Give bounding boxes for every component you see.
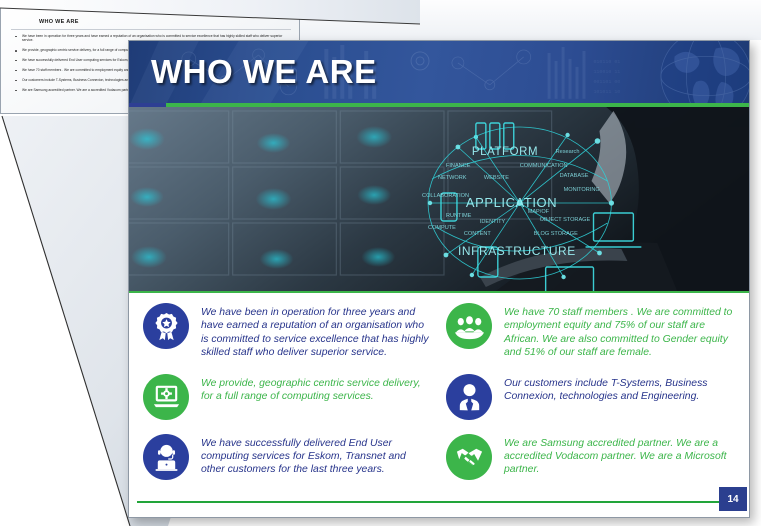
award-badge-icon	[143, 303, 189, 349]
svg-text:BLOG STORAGE: BLOG STORAGE	[534, 231, 578, 237]
globe-icon	[657, 41, 749, 107]
list-item-text: We have successfully delivered End User …	[201, 434, 432, 477]
content-area: We have been in operation for three year…	[129, 293, 749, 517]
list-item: We are Samsung accredited partner. We ar…	[446, 434, 735, 480]
page-number-badge: 14	[719, 487, 747, 511]
svg-text:RUNTIME: RUNTIME	[446, 213, 472, 219]
svg-text:OBJECT STORAGE: OBJECT STORAGE	[540, 217, 591, 223]
list-item-text: We have been in operation for three year…	[201, 303, 432, 360]
svg-text:WEBSITE: WEBSITE	[484, 175, 509, 181]
laptop-gear-icon	[143, 374, 189, 420]
footer-green-line	[137, 501, 741, 503]
svg-text:APPLICATION: APPLICATION	[466, 195, 557, 210]
list-item: We provide, geographic centric service d…	[143, 374, 432, 420]
svg-text:MAP/OF: MAP/OF	[528, 209, 550, 215]
page-title: WHO WE ARE	[151, 50, 377, 94]
svg-text:MONITORING: MONITORING	[564, 187, 600, 193]
handshake-icon	[446, 434, 492, 480]
svg-text:NETWORK: NETWORK	[438, 175, 467, 181]
svg-text:CONTENT: CONTENT	[464, 231, 492, 237]
svg-text:DATABASE: DATABASE	[560, 173, 589, 179]
svg-text:FINANCE: FINANCE	[446, 163, 471, 169]
background-slide-title: WHO WE ARE	[39, 19, 79, 25]
group-people-icon	[446, 303, 492, 349]
slide-footer: 14	[129, 495, 749, 517]
background-slide-rule	[11, 29, 291, 30]
list-item: We have 70 staff members . We are commit…	[446, 303, 735, 360]
list-item: Our customers include T-Systems, Busines…	[446, 374, 735, 420]
svg-text:101011 10: 101011 10	[593, 89, 620, 95]
svg-text:COMPUTE: COMPUTE	[428, 225, 456, 231]
list-item-text: Our customers include T-Systems, Busines…	[504, 374, 735, 404]
svg-text:110010 11: 110010 11	[593, 69, 620, 75]
content-column-left: We have been in operation for three year…	[143, 303, 432, 517]
hero-graphic: PLATFORM APPLICATION INFRASTRUCTURE Rese…	[129, 107, 749, 291]
slide-header-banner: 010110 01110010 11 001101 00101011 10	[129, 41, 749, 107]
svg-text:IDENTITY: IDENTITY	[480, 219, 506, 225]
list-item-text: We are Samsung accredited partner. We ar…	[504, 434, 735, 477]
svg-text:001101 00: 001101 00	[593, 79, 620, 85]
background-ghost-panel	[300, 0, 761, 40]
support-agent-icon	[143, 434, 189, 480]
active-slide[interactable]: 010110 01110010 11 001101 00101011 10	[128, 40, 750, 518]
svg-text:INFRASTRUCTURE: INFRASTRUCTURE	[458, 244, 576, 258]
svg-text:PLATFORM: PLATFORM	[472, 146, 538, 158]
list-item-text: We provide, geographic centric service d…	[201, 374, 432, 404]
svg-text:COLLABORATION: COLLABORATION	[422, 193, 469, 199]
svg-text:Research: Research	[556, 149, 580, 155]
svg-text:010110 01: 010110 01	[593, 59, 620, 65]
hero-image: PLATFORM APPLICATION INFRASTRUCTURE Rese…	[129, 107, 749, 291]
list-item-text: We have 70 staff members . We are commit…	[504, 303, 735, 360]
businessman-icon	[446, 374, 492, 420]
list-item: We have been in operation for three year…	[143, 303, 432, 360]
list-item: We have successfully delivered End User …	[143, 434, 432, 480]
svg-text:COMMUNICATION: COMMUNICATION	[520, 163, 568, 169]
content-column-right: We have 70 staff members . We are commit…	[446, 303, 735, 517]
